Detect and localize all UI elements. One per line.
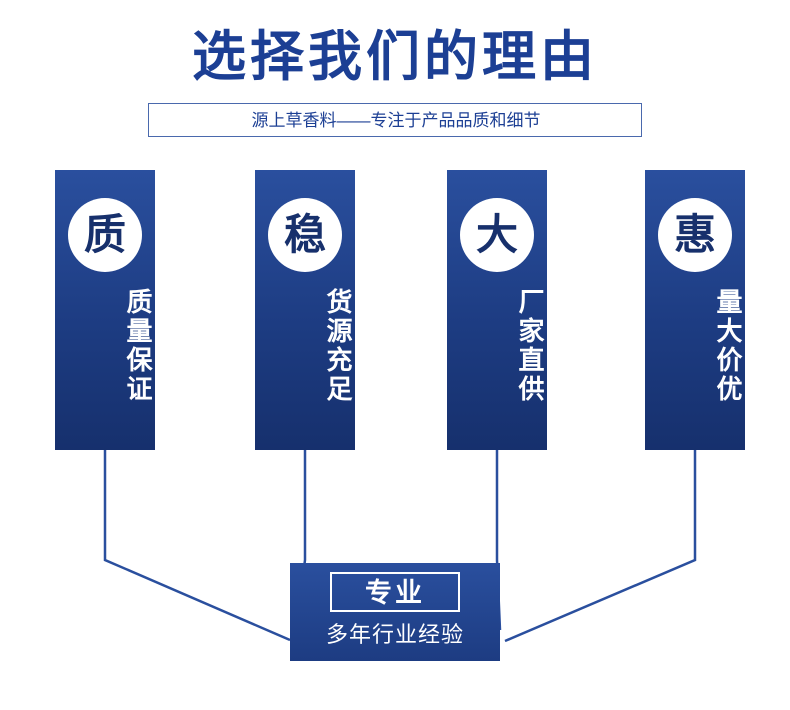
pillar-label-2: 货源充足 [255,288,355,404]
pillar-badge-1: 质 [68,198,142,272]
pillar-factory-direct: 大 厂家直供 [447,170,547,450]
summary-caption: 多年行业经验 [290,619,500,651]
pillar-badge-4: 惠 [658,198,732,272]
pillar-label-3: 厂家直供 [447,288,547,404]
pillar-label-1: 质量保证 [55,288,155,404]
pillar-quality: 质 质量保证 [55,170,155,450]
pillar-bulk-price: 惠 量大价优 [645,170,745,450]
pillar-supply: 稳 货源充足 [255,170,355,450]
page-title: 选择我们的理由 [0,24,790,90]
subtitle-box: 源上草香料——专注于产品品质和细节 [148,103,642,137]
pillar-label-text-2: 货源充足 [255,288,355,404]
summary-headline: 专业 [330,572,460,612]
pillar-badge-2: 稳 [268,198,342,272]
pillar-badge-3: 大 [460,198,534,272]
pillar-label-text-4: 量大价优 [645,288,745,404]
summary-box: 专业 多年行业经验 [290,563,500,661]
pillar-label-text-1: 质量保证 [55,288,155,404]
subtitle-text: 源上草香料——专注于产品品质和细节 [149,104,643,138]
pillar-label-4: 量大价优 [645,288,745,404]
pillar-label-text-3: 厂家直供 [447,288,547,404]
